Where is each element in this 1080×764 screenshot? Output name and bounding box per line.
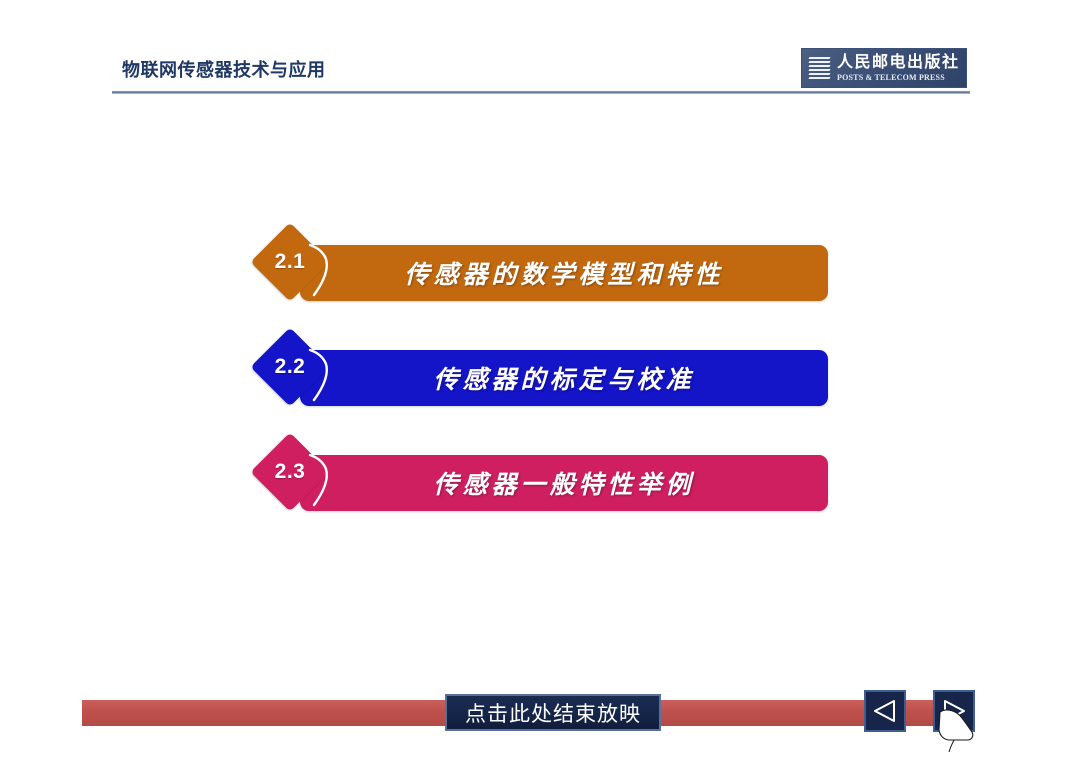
section-banner[interactable]: 2.3 传感器一般特性举例 bbox=[262, 455, 828, 511]
previous-slide-button[interactable] bbox=[864, 690, 906, 732]
end-show-label: 点击此处结束放映 bbox=[465, 698, 641, 728]
section-label: 传感器的标定与校准 bbox=[300, 350, 828, 406]
section-label: 传感器一般特性举例 bbox=[300, 455, 828, 511]
section-label: 传感器的数学模型和特性 bbox=[300, 245, 828, 301]
triangle-right-icon bbox=[941, 699, 967, 723]
section-banner[interactable]: 2.2 传感器的标定与校准 bbox=[262, 350, 828, 406]
end-show-button[interactable]: 点击此处结束放映 bbox=[445, 694, 661, 731]
publisher-logo: 人民邮电出版社 POSTS & TELECOM PRESS bbox=[801, 48, 967, 88]
next-slide-button[interactable] bbox=[933, 690, 975, 732]
section-banner[interactable]: 2.1 传感器的数学模型和特性 bbox=[262, 245, 828, 301]
publisher-logo-text: 人民邮电出版社 POSTS & TELECOM PRESS bbox=[837, 55, 960, 82]
publisher-name-en: POSTS & TELECOM PRESS bbox=[837, 74, 960, 82]
triangle-left-icon bbox=[872, 699, 898, 723]
book-pages-icon bbox=[807, 53, 833, 83]
slide-canvas: 物联网传感器技术与应用 人民邮电出版社 POSTS & TELECOM PRES… bbox=[0, 0, 1080, 764]
publisher-name-cn: 人民邮电出版社 bbox=[837, 55, 960, 71]
header-divider bbox=[112, 91, 970, 94]
page-title: 物联网传感器技术与应用 bbox=[122, 56, 326, 82]
